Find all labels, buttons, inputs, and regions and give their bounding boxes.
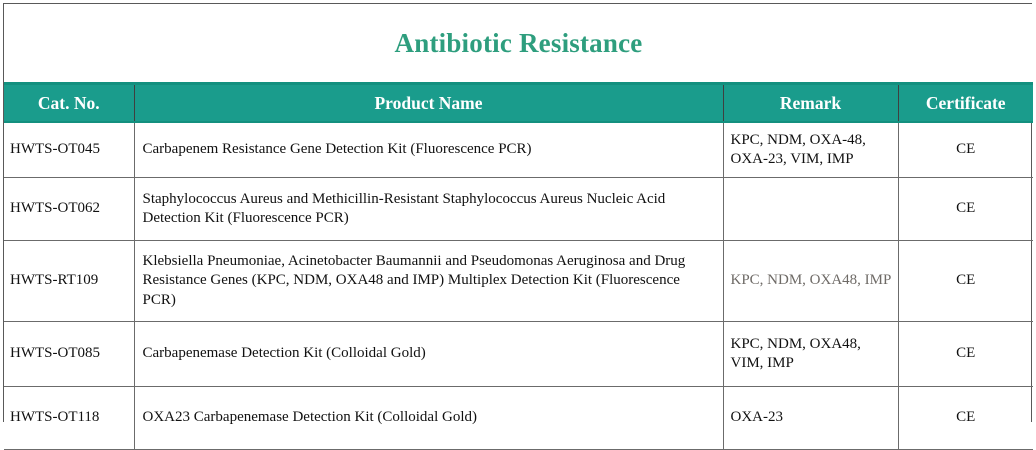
cell-certificate: CE [898, 122, 1033, 178]
title-row: Antibiotic Resistance [4, 4, 1033, 84]
cell-cat-no: HWTS-OT085 [4, 322, 134, 387]
table-row: HWTS-OT085 Carbapenemase Detection Kit (… [4, 322, 1033, 387]
cell-remark: OXA-23 [723, 387, 898, 450]
product-table-frame: Antibiotic Resistance Cat. No. Product N… [3, 3, 1032, 422]
document-page: Antibiotic Resistance Cat. No. Product N… [0, 0, 1036, 422]
cell-product-name: OXA23 Carbapenemase Detection Kit (Collo… [134, 387, 723, 450]
cell-remark: KPC, NDM, OXA48, IMP [723, 241, 898, 322]
table-body: HWTS-OT045 Carbapenem Resistance Gene De… [4, 122, 1033, 450]
cell-cat-no: HWTS-OT045 [4, 122, 134, 178]
cell-cat-no: HWTS-OT062 [4, 178, 134, 241]
table-row: HWTS-OT045 Carbapenem Resistance Gene De… [4, 122, 1033, 178]
cell-certificate: CE [898, 387, 1033, 450]
product-table: Antibiotic Resistance Cat. No. Product N… [4, 4, 1033, 450]
table-row: HWTS-OT062 Staphylococcus Aureus and Met… [4, 178, 1033, 241]
cell-product-name: Carbapenem Resistance Gene Detection Kit… [134, 122, 723, 178]
table-title-cell: Antibiotic Resistance [4, 4, 1033, 84]
column-header-row: Cat. No. Product Name Remark Certificate [4, 84, 1033, 123]
page-title: Antibiotic Resistance [395, 28, 643, 58]
cell-remark: KPC, NDM, OXA48, VIM, IMP [723, 322, 898, 387]
cell-cat-no: HWTS-OT118 [4, 387, 134, 450]
cell-certificate: CE [898, 178, 1033, 241]
cell-product-name: Klebsiella Pneumoniae, Acinetobacter Bau… [134, 241, 723, 322]
cell-certificate: CE [898, 322, 1033, 387]
cell-cat-no: HWTS-RT109 [4, 241, 134, 322]
cell-remark [723, 178, 898, 241]
table-row: HWTS-RT109 Klebsiella Pneumoniae, Acinet… [4, 241, 1033, 322]
table-row: HWTS-OT118 OXA23 Carbapenemase Detection… [4, 387, 1033, 450]
cell-remark: KPC, NDM, OXA-48, OXA-23, VIM, IMP [723, 122, 898, 178]
cell-product-name: Staphylococcus Aureus and Methicillin-Re… [134, 178, 723, 241]
cell-product-name: Carbapenemase Detection Kit (Colloidal G… [134, 322, 723, 387]
cell-certificate: CE [898, 241, 1033, 322]
column-header-certificate[interactable]: Certificate [898, 84, 1033, 123]
column-header-cat-no[interactable]: Cat. No. [4, 84, 134, 123]
column-header-remark[interactable]: Remark [723, 84, 898, 123]
table-head: Antibiotic Resistance Cat. No. Product N… [4, 4, 1033, 122]
column-header-product-name[interactable]: Product Name [134, 84, 723, 123]
